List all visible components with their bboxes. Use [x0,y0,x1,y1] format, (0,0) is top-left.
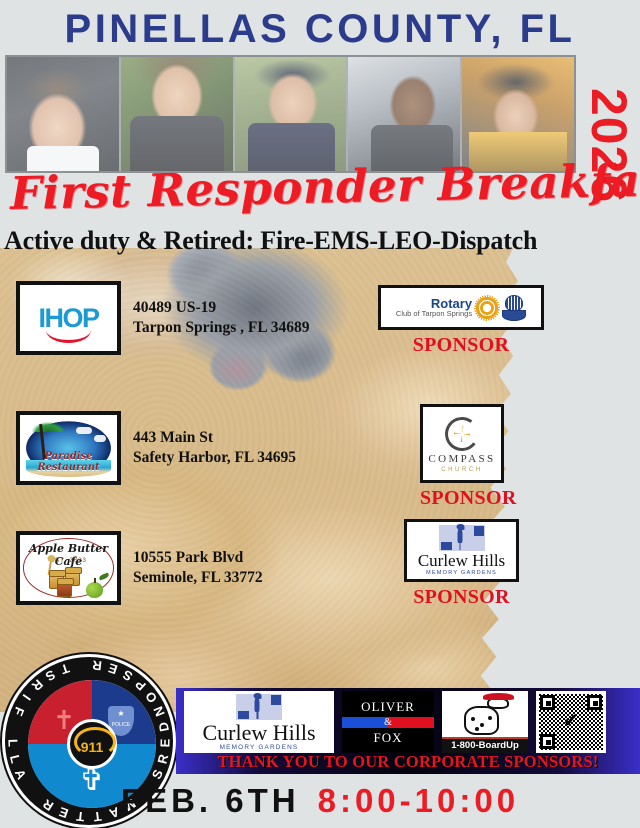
address-line-2: Seminole, FL 33772 [133,568,263,588]
corporate-logo-row: Curlew Hills MEMORY GARDENS OLIVER & FOX [176,688,640,756]
dalmatian-icon [442,691,528,737]
corporate-logo-curlew-hills: Curlew Hills MEMORY GARDENS [184,691,334,753]
rotary-gear-icon [476,297,498,319]
event-date: FEB. 6TH [121,782,300,820]
venue-address-paradise: 443 Main St Safety Harbor, FL 34695 [133,428,296,468]
address-line-1: 10555 Park Blvd [133,548,263,568]
fire-helmet-icon [483,693,514,700]
ampersand-text: & [342,717,434,728]
apple-butter-cafe-logo: Apple Butter Cafe EST. 2023 [16,531,121,605]
flyer-canvas: PINELLAS COUNTY, FL 2026 First Responder… [0,0,640,828]
page-title: PINELLAS COUNTY, FL [0,4,640,54]
paradise-beach-art: Paradise Restaurant [20,415,117,481]
curlew-name: Curlew Hills [202,721,315,744]
rotary-club-name: Club of Tarpon Springs [396,310,472,318]
event-subtitle: Active duty & Retired: Fire-EMS-LEO-Disp… [4,226,636,256]
ihop-smile-icon [46,330,92,343]
jar-icon-3 [57,581,72,597]
apple-butter-est-text: EST. 2023 [20,558,117,564]
checkmark-icon: ✔ [563,711,580,731]
thank-you-banner: THANK YOU TO OUR CORPORATE SPONSORS! [176,752,640,772]
compass-church-logo: COMPASS CHURCH [420,404,504,483]
venue-address-ihop: 40489 US-19 Tarpon Springs , FL 34689 [133,298,309,338]
address-line-1: 443 Main St [133,428,296,448]
curlew-name: Curlew Hills [418,552,505,570]
compass-subname: CHURCH [441,467,483,473]
boardup-text: 1-800-BoardUp [442,737,528,753]
address-line-1: 40489 US-19 [133,298,309,318]
compass-icon [443,415,481,453]
corporate-sponsor-bar: Curlew Hills MEMORY GARDENS OLIVER & FOX [176,688,640,774]
address-line-2: Tarpon Springs , FL 34689 [133,318,309,338]
paradise-logo-text: Paradise Restaurant [20,451,117,473]
qr-code[interactable]: ✔ [536,691,606,753]
paradise-restaurant-logo: Paradise Restaurant [16,411,121,485]
qr-code-image: ✔ [539,694,603,750]
event-time: 8:00-10:00 [318,782,519,820]
event-headline: First Responder Breakfast [9,151,570,225]
sponsor-rotary: Rotary Club of Tarpon Springs SPONSOR [378,285,544,357]
background-right-panel [585,248,640,718]
sponsor-compass-church: COMPASS CHURCH SPONSOR [420,404,504,510]
diving-helmet-icon [502,295,526,321]
apple-icon [86,582,103,598]
venue-address-apple-butter-cafe: 10555 Park Blvd Seminole, FL 33772 [133,548,263,588]
curlew-subname: MEMORY GARDENS [220,744,299,751]
venue-row-apple-butter-cafe: Apple Butter Cafe EST. 2023 10555 Park B… [16,531,263,605]
fox-text: FOX [373,730,402,746]
palm-frond-icon [32,422,65,433]
curlew-bird-icon [236,694,282,720]
event-datetime-footer: FEB. 6TH 8:00-10:00 [0,778,640,824]
photo-sheriff-deputy [121,57,233,171]
apple-butter-art: Apple Butter Cafe EST. 2023 [20,535,117,601]
curlew-hills-logo: Curlew Hills MEMORY GARDENS [404,519,519,582]
compass-name: COMPASS [428,453,495,465]
ihop-wordmark: IHOP [38,305,98,332]
ihop-logo-text: IHOP [38,303,98,333]
corporate-logo-boardup: 1-800-BoardUp [442,691,528,753]
sponsor-label: SPONSOR [378,334,544,357]
address-line-2: Safety Harbor, FL 34695 [133,448,296,468]
rotary-club-logo: Rotary Club of Tarpon Springs [378,285,544,330]
flag-stripe-icon: & [342,717,434,728]
sponsor-label: SPONSOR [404,586,519,609]
oliver-text: OLIVER [361,699,415,715]
police-shield-text: POLICE [112,722,130,728]
curlew-bird-icon [439,525,485,551]
venue-row-ihop: IHOP 40489 US-19 Tarpon Springs , FL 346… [16,281,309,355]
sponsor-label: SPONSOR [420,487,504,510]
dispatch-911-icon: 911 [67,719,117,769]
sponsor-curlew-hills: Curlew Hills MEMORY GARDENS SPONSOR [404,519,519,609]
venue-row-paradise: Paradise Restaurant 443 Main St Safety H… [16,411,296,485]
rotary-name: Rotary [396,297,472,311]
photo-ems-officer [235,57,347,171]
ihop-logo: IHOP [16,281,121,355]
photo-fire-chief [7,57,119,171]
corporate-logo-oliver-and-fox: OLIVER & FOX [342,691,434,753]
curlew-subname: MEMORY GARDENS [426,570,497,576]
